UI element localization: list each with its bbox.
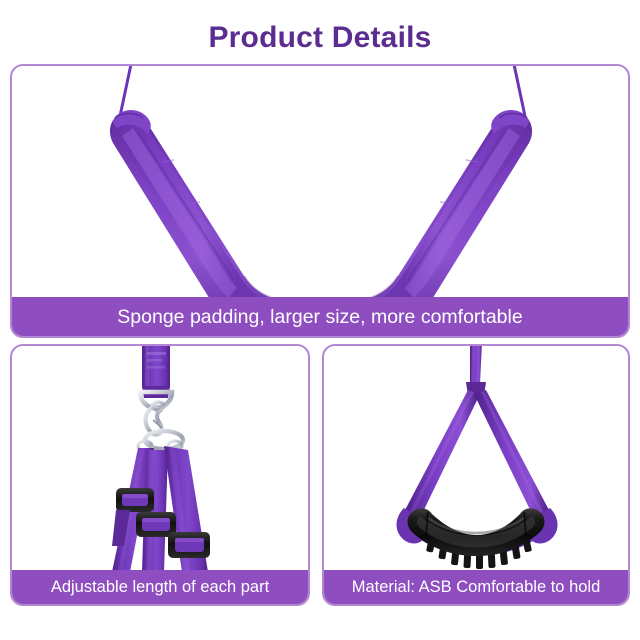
panel-caption: Adjustable length of each part [11,570,309,605]
product-details-page: Product Details [0,0,640,640]
handle-grip-illustration [324,346,628,570]
detail-panel-material: Material: ASB Comfortable to hold [322,344,630,606]
product-image-sponge-padding [12,66,628,297]
slider-buckle [168,532,210,558]
adjustable-straps-illustration [12,346,308,570]
sponge-sling-illustration [12,66,628,297]
panel-caption: Material: ASB Comfortable to hold [323,570,629,605]
page-title: Product Details [0,18,640,58]
product-image-adjustable-straps [12,346,308,570]
panel-caption: Sponge padding, larger size, more comfor… [11,297,629,337]
slider-buckle [116,488,154,512]
detail-panel-sponge-padding: Sponge padding, larger size, more comfor… [10,64,630,338]
product-image-handle-grip [324,346,628,570]
detail-panel-adjustable-length: Adjustable length of each part [10,344,310,606]
